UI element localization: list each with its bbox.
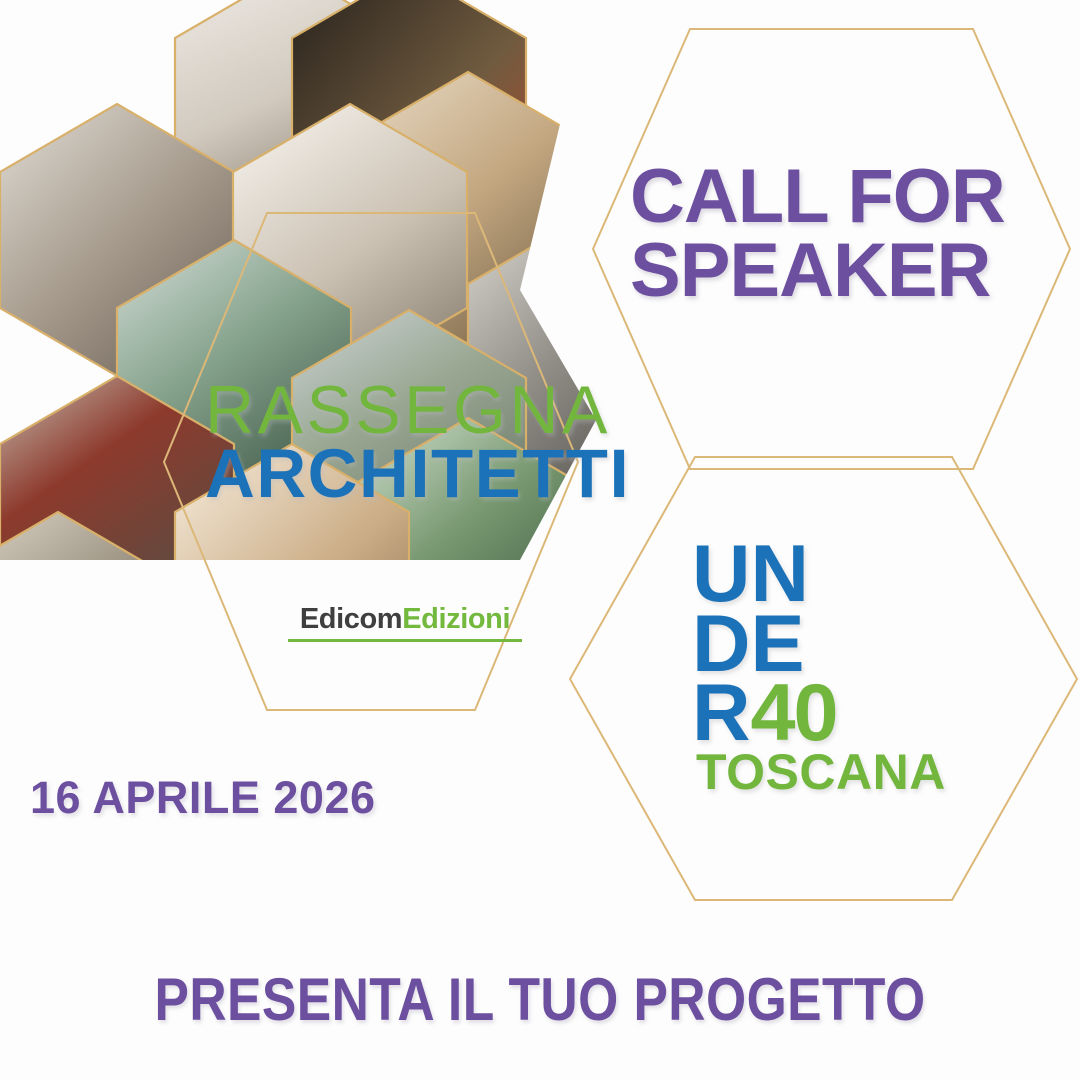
call-for-speaker-headline: CALL FOR SPEAKER — [630, 160, 1005, 309]
under40-toscana-logo: UN DE R40 TOSCANA — [692, 540, 946, 797]
under40-region-label: TOSCANA — [696, 747, 946, 797]
edicom-wordmark: EdicomEdizioni — [288, 605, 522, 634]
poster-canvas: CALL FOR SPEAKER RASSEGNA ARCHITETTI Edi… — [0, 0, 1080, 1080]
edicom-wordmark-part-1: Edicom — [300, 603, 402, 635]
under40-line-3: R40 — [692, 679, 946, 749]
event-title-line-2: ARCHITETTI — [205, 441, 630, 507]
headline-line-1: CALL FOR — [630, 154, 1005, 239]
edicom-edizioni-logo: EdicomEdizioni — [288, 605, 522, 642]
edicom-underline-rule — [288, 639, 522, 642]
event-title-line-1: RASSEGNA — [205, 378, 630, 443]
event-title: RASSEGNA ARCHITETTI — [205, 378, 630, 508]
event-date: 16 APRILE 2026 — [30, 772, 376, 824]
edicom-wordmark-part-2: Edizioni — [402, 603, 510, 635]
call-to-action-tagline: PRESENTA IL TUO PROGETTO — [76, 965, 1005, 1034]
headline-line-2: SPEAKER — [630, 228, 990, 313]
